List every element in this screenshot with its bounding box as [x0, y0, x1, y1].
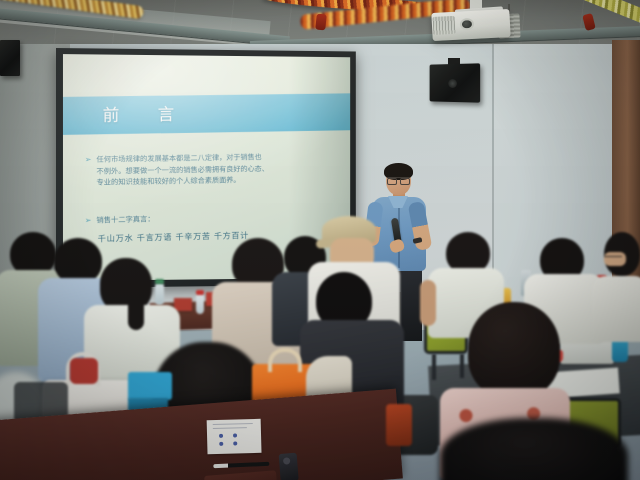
slide-title: 前 言 [103, 100, 185, 126]
bottle-cap-green [155, 279, 164, 284]
glasses-icon [387, 177, 410, 182]
slide-bullet-1: ➢ 任何市场规律的发展基本都是二八定律，对于销售也 不例外。想要做一个一流的销售… [85, 150, 337, 188]
tote-handle [268, 348, 302, 372]
attendee-head [100, 258, 152, 312]
bullet-1-text-block: 任何市场规律的发展基本都是二八定律，对于销售也 不例外。想要做一个一流的销售必需… [96, 151, 268, 188]
paper-mark [219, 434, 223, 438]
attendee-head [440, 418, 628, 480]
training-room-photo: 前 言 ➢ 任何市场规律的发展基本都是二八定律，对于销售也 不例外。想要做一个一… [0, 0, 640, 480]
projector-vent [433, 16, 456, 35]
paper-mark [219, 442, 223, 446]
ceiling-projector [431, 9, 510, 41]
garland-knot [315, 14, 327, 31]
desk-object-box [204, 470, 278, 480]
orange-cylinder-object [386, 404, 412, 446]
water-bottle-clear [155, 283, 164, 305]
paper-mark [233, 441, 237, 445]
chair-leg [432, 354, 436, 380]
bullet-marker-icon: ➢ [85, 214, 92, 226]
wall-speaker-left-icon [0, 40, 20, 76]
slide-body: ➢ 任何市场规律的发展基本都是二八定律，对于销售也 不例外。想要做一个一流的销售… [85, 152, 337, 242]
black-pen [213, 462, 269, 468]
chair-leg [460, 354, 464, 378]
attendee-head [468, 302, 560, 398]
handbag-red-item [70, 358, 98, 384]
wall-speaker-right-icon [430, 63, 481, 102]
blue-basket [128, 372, 172, 400]
attendee-ponytail-hair [128, 296, 144, 330]
water-bottle-clear-2 [196, 294, 204, 314]
paper-line [213, 423, 253, 425]
bottle-cap-red [196, 290, 204, 295]
attendee-torso [592, 276, 640, 342]
paper-mark [233, 433, 237, 437]
notebook-paper [207, 419, 262, 454]
bullet-marker-icon: ➢ [85, 154, 92, 188]
glasses-icon [604, 256, 622, 261]
paper-line [213, 427, 247, 429]
bullet-line: 专业的知识技能和较好的个人综合素质面养。 [96, 174, 268, 188]
smartphone [279, 453, 299, 480]
bullet-line: 销售十二字真言： [96, 213, 154, 226]
slide-spacer [85, 192, 337, 213]
projector-lens-icon [460, 18, 475, 31]
attendee-arm [420, 280, 436, 326]
